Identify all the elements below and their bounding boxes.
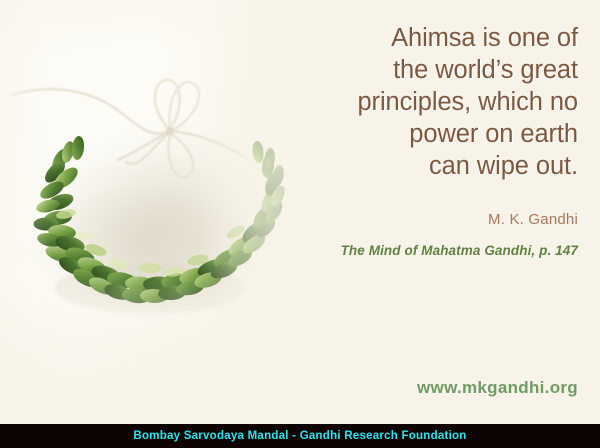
website-url[interactable]: www.mkgandhi.org: [248, 378, 578, 398]
quote-line: can wipe out.: [248, 150, 578, 182]
quote-line: power on earth: [248, 118, 578, 150]
quote-text-column: Ahimsa is one of the world’s great princ…: [248, 0, 578, 260]
quote-line: Ahimsa is one of: [248, 22, 578, 54]
quote-author: M. K. Gandhi: [248, 210, 578, 230]
gandhi-quote-poster: Ahimsa is one of the world’s great princ…: [0, 0, 600, 448]
footer-bar: Bombay Sarvodaya Mandal - Gandhi Researc…: [0, 424, 600, 448]
quote-text: Ahimsa is one of the world’s great princ…: [248, 22, 578, 182]
quote-line: the world’s great: [248, 54, 578, 86]
quote-line: principles, which no: [248, 86, 578, 118]
quote-source: The Mind of Mahatma Gandhi, p. 147: [248, 242, 578, 260]
footer-organization-text: Bombay Sarvodaya Mandal - Gandhi Researc…: [133, 430, 466, 442]
